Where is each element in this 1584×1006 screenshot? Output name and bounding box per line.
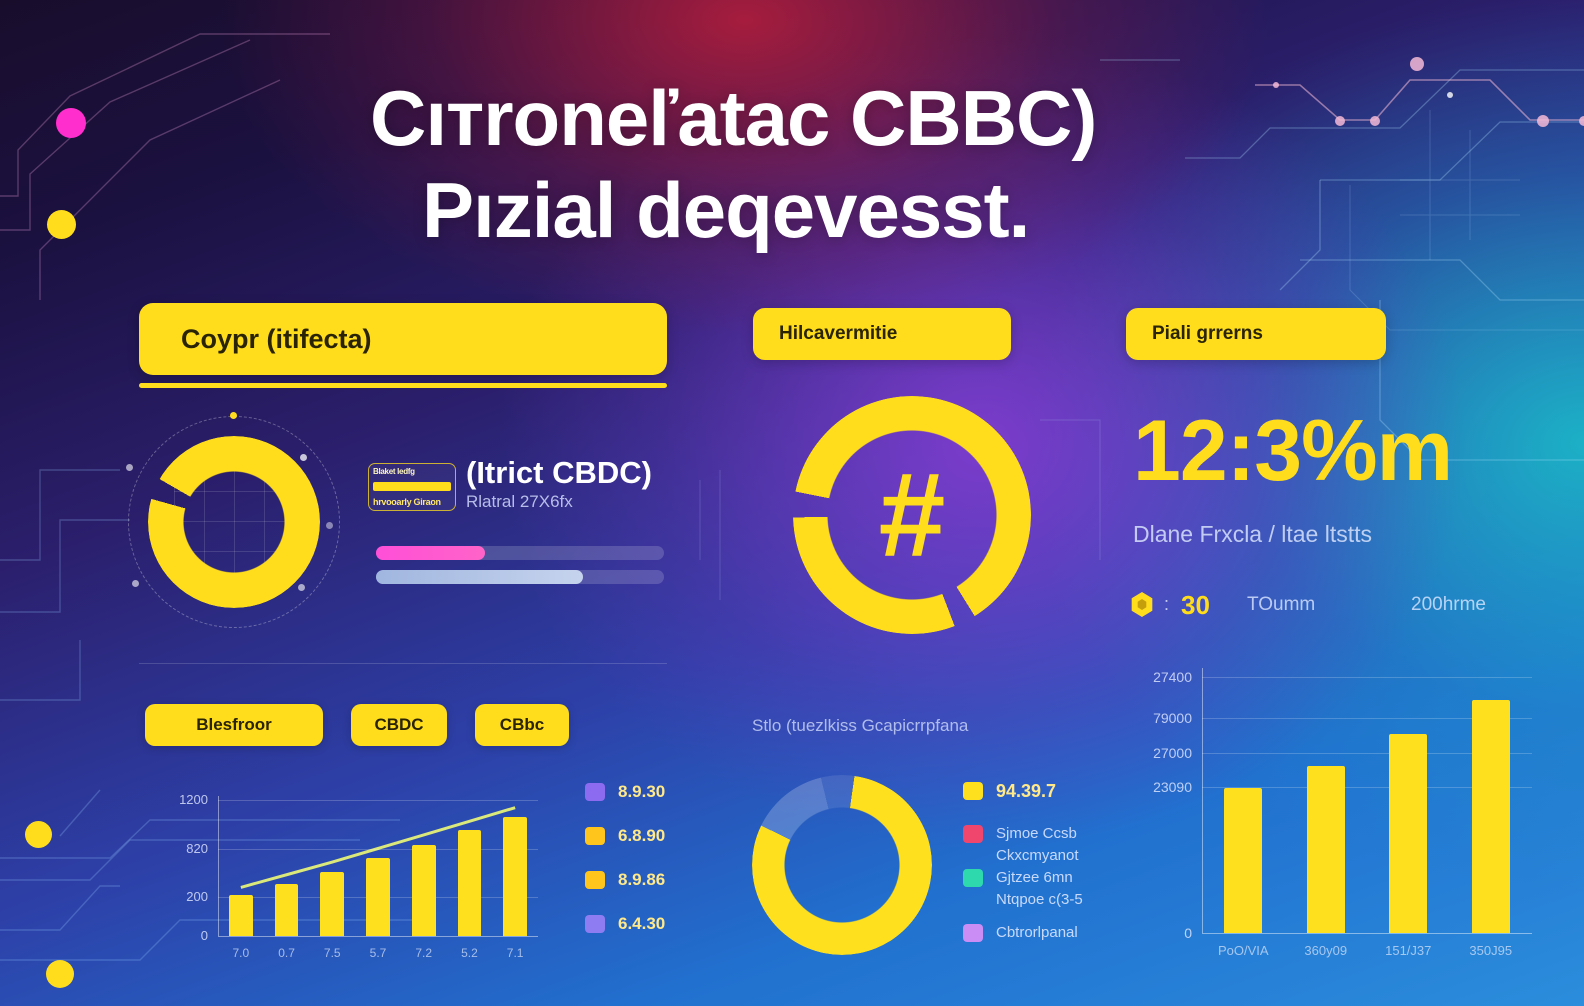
- decor-dot-magenta: [56, 108, 86, 138]
- x-axis-line: [218, 936, 538, 937]
- legend-swatch: [585, 915, 605, 933]
- bar: [1472, 700, 1510, 933]
- legend-swatch: [963, 782, 983, 800]
- center-caption: Stlo (tuezlkiss Gcapicrrpfana: [752, 716, 968, 736]
- y-axis-line: [1202, 668, 1203, 933]
- legend-label-group: Gjtzee 6mnNtqpoe c(3-5: [996, 867, 1083, 911]
- donut-left-arc: [148, 436, 320, 608]
- left-panel-divider: [139, 663, 667, 664]
- big-stat-subtitle: Dlane Frxcla / ltae ltstts: [1133, 521, 1372, 548]
- legend-item[interactable]: Gjtzee 6mnNtqpoe c(3-5: [963, 867, 1083, 911]
- legend-label: 8.9.86: [618, 870, 665, 890]
- bar: [503, 817, 527, 936]
- bar: [458, 830, 482, 936]
- stat-right-label: 200hrme: [1411, 594, 1486, 616]
- gridline: [218, 800, 538, 801]
- legend-label: 8.9.30: [618, 782, 665, 802]
- donut-center-ring: [752, 775, 932, 955]
- legend-swatch: [963, 924, 983, 942]
- x-axis-tick: 7.2: [401, 946, 447, 960]
- kpi-left-subtitle: Rlatral 27X6fx: [466, 492, 573, 512]
- orbit-dot-left: [126, 464, 133, 471]
- orbit-dot-right: [300, 454, 307, 461]
- legend-item[interactable]: Cbtrorlpanal: [963, 922, 1078, 944]
- x-axis-tick: 151/J37: [1367, 943, 1450, 958]
- legend-label-group: Cbtrorlpanal: [996, 922, 1078, 944]
- kpi-left-title: (Itrict CBDC): [466, 455, 652, 491]
- legend-label: 6.4.30: [618, 914, 665, 934]
- legend-label: 6.8.90: [618, 826, 665, 846]
- x-axis-tick: 0.7: [264, 946, 310, 960]
- legend-swatch: [585, 871, 605, 889]
- gridline: [218, 849, 538, 850]
- hexagon-icon: [1130, 592, 1154, 617]
- y-axis-tick: 79000: [1120, 710, 1192, 726]
- y-axis-tick: 1200: [160, 792, 208, 807]
- legend-item[interactable]: 94.39.7: [963, 780, 1056, 802]
- progress-bar-2[interactable]: [376, 570, 664, 584]
- tab-main[interactable]: Coypr (itifecta): [139, 303, 667, 375]
- stat-colon: :: [1164, 594, 1169, 615]
- legend-label: Ckxcmyanot: [996, 845, 1079, 867]
- bar: [1224, 788, 1262, 933]
- x-axis-tick: 7.1: [492, 946, 538, 960]
- legend-swatch: [963, 869, 983, 887]
- page-title: Cıтroneľatac CBBC) Pızial deqevesst.: [370, 72, 1370, 256]
- y-axis-tick: 27000: [1120, 745, 1192, 761]
- donut-chart-left: [148, 436, 320, 608]
- x-axis-tick: 7.5: [309, 946, 355, 960]
- tag-cbdc[interactable]: CBDC: [351, 704, 447, 746]
- donut-chart-center: [752, 775, 932, 955]
- tab-main-underline: [139, 383, 667, 388]
- legend-swatch: [585, 783, 605, 801]
- legend-item[interactable]: 8.9.30: [585, 782, 665, 802]
- y-axis-tick: 27400: [1120, 669, 1192, 685]
- tab-middle[interactable]: Hilcavermitie: [753, 308, 1011, 360]
- legend-item[interactable]: Sjmoe CcsbCkxcmyanot: [963, 823, 1079, 867]
- y-axis-tick: 0: [1120, 925, 1192, 941]
- legend-item[interactable]: 6.8.90: [585, 826, 665, 846]
- stat-middle-label: TOumm: [1247, 594, 1315, 616]
- bar: [1389, 734, 1427, 933]
- badge-progress-bar: [373, 482, 451, 491]
- bar: [366, 858, 390, 936]
- legend-label: Ntqpoe c(3-5: [996, 889, 1083, 911]
- page-title-line-1: Cıтroneľatac CBBC): [370, 72, 1370, 164]
- metric-badge-card[interactable]: Blaket ledfg hrvooarly Giraon: [368, 463, 456, 511]
- big-stat-value: 12:3%m: [1133, 408, 1452, 494]
- legend-label: Cbtrorlpanal: [996, 922, 1078, 944]
- decor-dot-yellow-2: [25, 821, 52, 848]
- legend-item[interactable]: 6.4.30: [585, 914, 665, 934]
- x-axis-tick: 360y09: [1285, 943, 1368, 958]
- chart-left-bars: 020082012007.00.77.55.77.25.27.1: [160, 778, 560, 978]
- legend-label: Sjmoe Ccsb: [996, 823, 1079, 845]
- dashboard-poster: Cıтroneľatac CBBC) Pızial deqevesst. Coy…: [0, 0, 1584, 1006]
- orbit-dot-top: [230, 412, 237, 419]
- donut-chart-hash: #: [793, 396, 1031, 634]
- bar: [229, 895, 253, 936]
- badge-line-2: hrvooarly Giraon: [373, 497, 451, 507]
- y-axis-tick: 0: [160, 928, 208, 943]
- y-axis-tick: 200: [160, 889, 208, 904]
- bar: [1307, 766, 1345, 933]
- x-axis-tick: 5.2: [447, 946, 493, 960]
- orbit-dot-bottom-left: [132, 580, 139, 587]
- chart-right-bars: 023090270007900027400PoO/VIA360y09151/J3…: [1120, 648, 1570, 978]
- legend-item[interactable]: 8.9.86: [585, 870, 665, 890]
- x-axis-tick: 350J95: [1450, 943, 1533, 958]
- page-title-line-2: Pızial deqevesst.: [370, 164, 1370, 256]
- legend-label-group: 94.39.7: [996, 780, 1056, 802]
- progress-bar-1-fill: [376, 546, 485, 560]
- legend-label-group: Sjmoe CcsbCkxcmyanot: [996, 823, 1079, 867]
- bar: [412, 845, 436, 936]
- stat-number: 30: [1181, 590, 1210, 621]
- decor-dot-yellow-3: [46, 960, 74, 988]
- legend-label: Gjtzee 6mn: [996, 867, 1083, 889]
- progress-bar-2-fill: [376, 570, 583, 584]
- x-axis-tick: PoO/VIA: [1202, 943, 1285, 958]
- x-axis-tick: 5.7: [355, 946, 401, 960]
- tag-cbbc[interactable]: CBbc: [475, 704, 569, 746]
- tab-right[interactable]: Piali grrerns: [1126, 308, 1386, 360]
- x-axis-tick: 7.0: [218, 946, 264, 960]
- progress-bar-1[interactable]: [376, 546, 664, 560]
- legend-swatch: [963, 825, 983, 843]
- x-axis-line: [1202, 933, 1532, 934]
- legend-label: 94.39.7: [996, 780, 1056, 802]
- tag-blesfroor[interactable]: Blesfroor: [145, 704, 323, 746]
- y-axis-line: [218, 796, 219, 936]
- y-axis-tick: 820: [160, 841, 208, 856]
- hash-icon: #: [793, 396, 1031, 634]
- bar: [320, 872, 344, 936]
- orbit-dot-bottom-right: [298, 584, 305, 591]
- orbit-dot-mid-right: [326, 522, 333, 529]
- badge-line-1: Blaket ledfg: [373, 467, 451, 476]
- legend-swatch: [585, 827, 605, 845]
- decor-dot-yellow-1: [47, 210, 76, 239]
- y-axis-tick: 23090: [1120, 779, 1192, 795]
- bar: [275, 884, 299, 937]
- gridline: [1202, 677, 1532, 678]
